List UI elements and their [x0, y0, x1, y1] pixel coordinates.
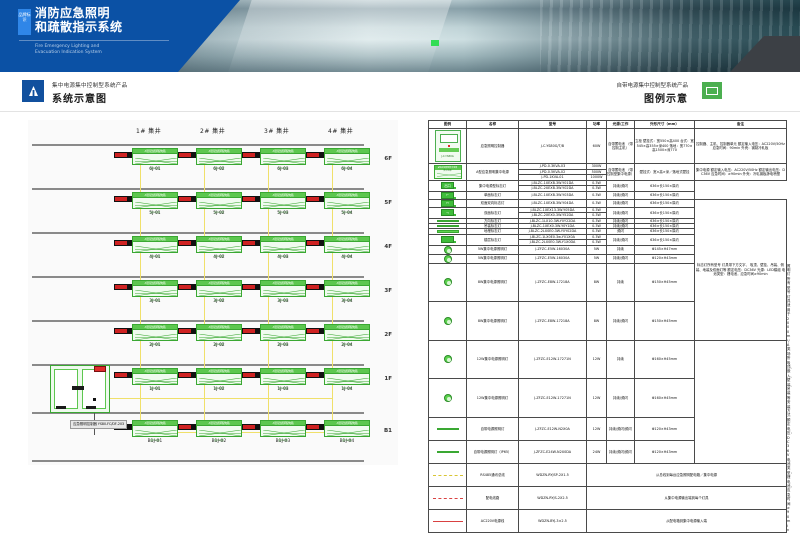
cabinet-panel-right — [82, 369, 106, 409]
legend-source-cell: 持续/频闪 — [607, 234, 635, 245]
circuit-symbol-icon — [135, 378, 177, 385]
circuit-symbol-icon — [263, 290, 305, 297]
legend-symbol-cell: J-C-YS80G — [429, 129, 467, 164]
legend-symbol-cell — [429, 463, 467, 486]
floor-divider — [32, 460, 364, 462]
legend-source-cell: 自带蓄电池 （带控制主机） — [607, 129, 635, 164]
legend-symbol-cell — [429, 440, 467, 463]
legend-model-cell: J-ZFZC-E12W-17271N — [519, 379, 587, 418]
legend-name-cell: 配电线路 — [467, 487, 519, 510]
downlight-icon — [444, 317, 452, 325]
power-box-icon: A型应急照明集中电源集中电源 — [434, 165, 462, 179]
distribution-box[interactable]: A型应急照明配电箱集中电源B1J-03 — [260, 420, 306, 443]
distribution-box-body: A型应急照明配电箱集中电源 — [196, 192, 242, 209]
banner-subtitle: Fire Emergency Lighting and Evacuation I… — [35, 44, 102, 56]
distribution-box-body: A型应急照明配电箱集中电源 — [196, 324, 242, 341]
banner-title: 消防应急照明 和疏散指示系统 — [35, 6, 123, 34]
building-icon — [22, 80, 44, 102]
legend-name-cell: 自带电源照明灯 — [467, 417, 519, 440]
legend-source-cell: 持续/频闪 — [607, 207, 635, 218]
controller-cabinet-icon: J-C-YS80G — [435, 130, 461, 162]
exit-sign-bar3-icon — [437, 230, 459, 233]
power-connector-icon — [242, 240, 260, 246]
distribution-box-body: A型应急照明配电箱集中电源 — [324, 368, 370, 385]
distribution-box[interactable]: A型应急照明配电箱集中电源4J-03 — [260, 236, 306, 259]
column-header: 4# 集井 — [328, 126, 353, 135]
legend-name-cell: 5W集中电源照明灯 — [467, 254, 519, 263]
circuit-symbol-icon — [263, 202, 305, 209]
distribution-box[interactable]: A型应急照明配电箱集中电源3J-02 — [196, 280, 242, 303]
legend-power-cell: 8W — [587, 263, 607, 302]
exit-sign-photo-icon — [431, 40, 439, 46]
circuit-symbol-icon — [327, 246, 369, 253]
circuit-symbol-icon — [263, 158, 305, 165]
legend-power-cell: 12W — [587, 417, 607, 440]
table-row: ←单面标志灯J-BLZC-1XEXB.3W-Y03DA0.3W持续/频闪636×… — [429, 191, 787, 199]
distribution-box-body: A型应急照明配电箱集中电源 — [132, 368, 178, 385]
legend-model-cell: J-C-YS80G/T/B — [519, 129, 587, 164]
legend-symbol-cell — [429, 254, 467, 263]
distribution-box-body: A型应急照明配电箱集中电源 — [132, 192, 178, 209]
power-connector-icon — [114, 372, 132, 378]
power-connector-icon — [178, 372, 196, 378]
legend-symbol-cell — [429, 263, 467, 302]
circuit-symbol-icon — [327, 430, 369, 437]
distribution-box-body: A型应急照明配电箱集中电源 — [132, 280, 178, 297]
legend-symbol-cell: 出口 — [429, 181, 467, 192]
floor-label: 6F — [384, 156, 392, 162]
banner-subtitle-line2: Evacuation Indication System — [35, 50, 102, 56]
circuit-symbol-icon — [263, 334, 305, 341]
distribution-box-body: A型应急照明配电箱集中电源 — [260, 280, 306, 297]
cable-red-icon — [433, 521, 463, 522]
circuit-symbol-icon — [135, 158, 177, 165]
legend-size-cell: 636×长150×厚约 — [635, 234, 695, 245]
exit-sign-bar-icon — [437, 220, 459, 223]
circuit-symbol-icon — [199, 334, 241, 341]
power-connector-icon — [114, 240, 132, 246]
distribution-box[interactable]: A型应急照明配电箱集中电源5J-04 — [324, 192, 370, 215]
table-row: J-C-YS80G应急照明控制器J-C-YS80G/T/B60W自带蓄电池 （带… — [429, 129, 787, 164]
distribution-box-body: A型应急照明配电箱集中电源 — [324, 192, 370, 209]
legend-power-cell: 5W — [587, 254, 607, 263]
downlight-icon — [444, 394, 452, 402]
table-column-header: 名称 — [467, 121, 519, 129]
distribution-box[interactable]: A型应急照明配电箱集中电源1J-01 — [132, 368, 178, 391]
power-connector-icon — [114, 152, 132, 158]
table-column-header: 备注 — [695, 121, 787, 129]
power-connector-icon — [178, 152, 196, 158]
banner-title-line2: 和疏散指示系统 — [35, 20, 123, 34]
distribution-box-body: A型应急照明配电箱集中电源 — [196, 280, 242, 297]
table-column-header: 外形尺寸（mm） — [635, 121, 695, 129]
floor-divider — [32, 320, 364, 322]
downlight-icon — [444, 255, 452, 263]
table-column-header: 图例 — [429, 121, 467, 129]
legend-power-cell: 8W — [587, 302, 607, 341]
legend-size-cell: Φ160×H45mm — [635, 379, 695, 418]
power-connector-icon — [306, 240, 324, 246]
distribution-box[interactable]: A型应急照明配电箱集中电源1J-04 — [324, 368, 370, 391]
legend-symbol-cell: ↔ — [429, 199, 467, 207]
floor-label: 2F — [384, 332, 392, 338]
content-area: 1# 集井2# 集井3# 集井4# 集井6F5F4F3F2F1FB1A型应急照明… — [0, 112, 800, 472]
legend-power-cell: 0.3W — [587, 191, 607, 199]
legend-source-cell: 持续/频闪 — [607, 191, 635, 199]
legend-name-cell: 集中电源型标志灯 — [467, 181, 519, 192]
circuit-symbol-icon — [263, 246, 305, 253]
legend-size-cell: Φ150×H45mm — [635, 302, 695, 341]
table-column-header: 光源/工作 — [607, 121, 635, 129]
power-connector-icon — [306, 328, 324, 334]
distribution-box-body: A型应急照明配电箱集中电源 — [260, 236, 306, 253]
legend-model-cell: J-BLZC-1XEXB.3W-Y04DA — [519, 199, 587, 207]
distribution-box[interactable]: A型应急照明配电箱集中电源3J-03 — [260, 280, 306, 303]
cabinet-slot — [56, 406, 66, 409]
column-header: 2# 集井 — [200, 126, 225, 135]
distribution-box-body: A型应急照明配电箱集中电源 — [132, 324, 178, 341]
circuit-symbol-icon — [327, 334, 369, 341]
legend-symbol-cell: A型应急照明集中电源集中电源 — [429, 164, 467, 181]
power-connector-icon — [306, 284, 324, 290]
table-row: 12W集中电源照明灯J-ZFZC-E12W-17271N12W持续Φ160×H4… — [429, 340, 787, 379]
legend-source-cell: 持续 — [607, 340, 635, 379]
exit-sign-icon — [702, 82, 722, 99]
distribution-box[interactable]: A型应急照明配电箱集中电源2J-01 — [132, 324, 178, 347]
legend-size-cell: 636×长150×厚约 — [635, 191, 695, 199]
legend-source-cell: 持续/频闪/频闪 — [607, 440, 635, 463]
legend-size-cell: Φ150×H45mm — [635, 263, 695, 302]
power-connector-icon — [178, 328, 196, 334]
circuit-symbol-icon — [263, 378, 305, 385]
distribution-box[interactable]: A型应急照明配电箱集中电源6J-03 — [260, 148, 306, 171]
distribution-box[interactable]: A型应急照明配电箱集中电源5J-02 — [196, 192, 242, 215]
distribution-box[interactable]: A型应急照明配电箱集中电源3J-01 — [132, 280, 178, 303]
circuit-symbol-icon — [327, 378, 369, 385]
exit-sign-right-icon: → — [441, 209, 454, 216]
power-connector-icon — [242, 372, 260, 378]
legend-name-cell: 双面双向标志灯 — [467, 199, 519, 207]
legend-power-cell: 0.3W — [587, 199, 607, 207]
circuit-symbol-icon — [199, 158, 241, 165]
distribution-box-body: A型应急照明配电箱集中电源 — [196, 236, 242, 253]
power-connector-icon — [114, 284, 132, 290]
legend-model-cell: WDZN-RYJS-2X2.5 — [519, 487, 587, 510]
floor-divider — [32, 232, 364, 234]
legend-size-cell: 壁挂式：宽×高×深／落地式壁挂 — [635, 164, 695, 181]
floor-divider — [32, 188, 364, 190]
distribution-box-body: A型应急照明配电箱集中电源 — [132, 148, 178, 165]
legend-name-cell: 5W集中电源照明灯 — [467, 245, 519, 254]
legend-size-cell: Φ120×H43mm — [635, 440, 695, 463]
banner-title-line1: 消防应急照明 — [35, 6, 123, 20]
distribution-box-body: A型应急照明配电箱集中电源 — [324, 148, 370, 165]
exit-sign-both-icon: ↔ — [441, 200, 454, 207]
table-row: 自带电源照明灯J-ZFZC-E12W-N2X0A12W持续/频闪/频闪Φ120×… — [429, 417, 787, 440]
legend-size-cell: 立柜 壁挂式：宽550×高400 台式：宽545×高355×深400 落地：宽7… — [635, 129, 695, 164]
distribution-box[interactable]: A型应急照明配电箱集中电源2J-02 — [196, 324, 242, 347]
section-left-title: 系统示意图 — [52, 90, 107, 105]
distribution-box-body: A型应急照明配电箱集中电源 — [260, 324, 306, 341]
legend-source-cell: 持续/频闪 — [607, 302, 635, 341]
distribution-box[interactable]: A型应急照明配电箱集中电源6J-04 — [324, 148, 370, 171]
table-row: AC220V电源线WDZN-BYJ-3×2.5从配电箱到集中电源输入端 — [429, 510, 787, 533]
power-connector-icon — [178, 284, 196, 290]
floor-divider — [32, 276, 364, 278]
table-column-header: 型号 — [519, 121, 587, 129]
legend-model-cell: J-ZFZC-E5W-16030A — [519, 245, 587, 254]
legend-source-cell: 持续 — [607, 245, 635, 254]
legend-name-cell: 单面标志灯 — [467, 191, 519, 199]
floor-divider — [32, 144, 364, 146]
section-right-title: 图例示意 — [644, 90, 688, 105]
power-connector-icon — [306, 196, 324, 202]
legend-power-cell: 12W — [587, 340, 607, 379]
legend-source-cell: 持续/频闪 — [607, 379, 635, 418]
section-left-subtitle: 集中电源集中控制型系统产品 — [52, 81, 127, 89]
distribution-box[interactable]: A型应急照明配电箱集中电源B1J-02 — [196, 420, 242, 443]
distribution-box[interactable]: A型应急照明配电箱集中电源4J-02 — [196, 236, 242, 259]
distribution-box[interactable]: A型应急照明配电箱集中电源2J-03 — [260, 324, 306, 347]
legend-symbol-cell — [429, 234, 467, 245]
table-row: 出口集中电源型标志灯J-BLZC-1XEXB.3W-Y01DA0.3W持续/频闪… — [429, 181, 787, 186]
legend-model-cell: J-ZFZC-E8W-17218A — [519, 263, 587, 302]
cabinet-slot — [72, 386, 84, 390]
legend-source-cell: 持续 — [607, 263, 635, 302]
power-connector-icon — [178, 196, 196, 202]
power-connector-icon — [306, 152, 324, 158]
legend-model-cell: WDZN-BYJ-3×2.5 — [519, 510, 587, 533]
legend-size-cell: 636×长150×厚约 — [635, 199, 695, 207]
circuit-symbol-icon — [199, 246, 241, 253]
cable-red-dash-icon — [433, 498, 463, 499]
header-banner: 品牌标识 消防应急照明 和疏散指示系统 Fire Emergency Light… — [0, 0, 800, 72]
power-connector-icon — [114, 196, 132, 202]
distribution-box-body: A型应急照明配电箱集中电源 — [132, 420, 178, 437]
legend-source-cell: 持续/频闪 — [607, 199, 635, 207]
floor-label: B1 — [384, 428, 392, 434]
legend-model-cell: J-ZFZC-E5W-16030A — [519, 254, 587, 263]
cable-yellow-icon — [433, 475, 463, 476]
power-connector-icon — [178, 424, 196, 430]
distribution-box[interactable]: A型应急照明配电箱集中电源B1J-01 — [132, 420, 178, 443]
downlight-icon — [444, 246, 452, 254]
column-header: 1# 集井 — [136, 126, 161, 135]
table-row: 配电线路WDZN-RYJS-2X2.5从集中电源输出端到每个灯具 — [429, 487, 787, 510]
distribution-box-body: A型应急照明配电箱集中电源 — [260, 148, 306, 165]
legend-symbol-cell — [429, 417, 467, 440]
column-header: 3# 集井 — [264, 126, 289, 135]
circuit-symbol-icon — [263, 430, 305, 437]
legend-model-cell: J-ZFZC-E24W-N2X0DA — [519, 440, 587, 463]
power-connector-icon — [306, 424, 324, 430]
legend-model-cell: J-BLZC-1XEXB.3W-Y03DA — [519, 191, 587, 199]
legend-table-wrap: 图例名称型号功率光源/工作外形尺寸（mm）备注 J-C-YS80G应急照明控制器… — [428, 120, 786, 465]
cabinet-slot — [86, 406, 96, 409]
distribution-box-body: A型应急照明配电箱集中电源 — [132, 236, 178, 253]
downlight-icon — [444, 278, 452, 286]
circuit-symbol-icon — [199, 290, 241, 297]
legend-description-cell: 从集中电源输出端到每个灯具 — [587, 487, 787, 510]
power-connector-icon — [178, 240, 196, 246]
distribution-box-body: A型应急照明配电箱集中电源 — [196, 420, 242, 437]
floor-label: 4F — [384, 244, 392, 250]
distribution-box[interactable]: A型应急照明配电箱集中电源5J-03 — [260, 192, 306, 215]
riser-feed — [86, 398, 332, 399]
distribution-box-body: A型应急照明配电箱集中电源 — [260, 420, 306, 437]
legend-name-cell: 8W集中电源照明灯 — [467, 263, 519, 302]
table-column-header: 功率 — [587, 121, 607, 129]
legend-source-cell: 持续/频闪 — [607, 254, 635, 263]
legend-symbol-cell — [429, 510, 467, 533]
legend-name-cell: AC220V电源线 — [467, 510, 519, 533]
legend-size-cell: Φ160×H45mm — [635, 340, 695, 379]
legend-symbol-cell: ← — [429, 191, 467, 199]
circuit-symbol-icon — [135, 246, 177, 253]
distribution-box[interactable]: A型应急照明配电箱集中电源3J-04 — [324, 280, 370, 303]
legend-note-cell: 标志灯所有型号 灯具带下方文字、 吸顶、壁挂、吊装、侧装、地装及双面灯等 额定电… — [695, 199, 787, 340]
legend-size-cell: 636×长150×厚约 — [635, 207, 695, 218]
legend-source-cell: 持续/频闪 — [607, 181, 635, 192]
power-connector-icon — [114, 328, 132, 334]
distribution-box[interactable]: A型应急照明配电箱集中电源4J-01 — [132, 236, 178, 259]
brand-tag: 品牌标识 — [18, 9, 31, 35]
floor-label: 3F — [384, 288, 392, 294]
legend-description-cell: 从配电箱到集中电源输入端 — [587, 510, 787, 533]
distribution-box-body: A型应急照明配电箱集中电源 — [324, 236, 370, 253]
legend-symbol-cell — [429, 487, 467, 510]
cabinet-indicator — [94, 366, 106, 372]
legend-power-cell: 12W — [587, 379, 607, 418]
legend-model-cell: J-ZFZC-E12W-N2X0A — [519, 417, 587, 440]
legend-table: 图例名称型号功率光源/工作外形尺寸（mm）备注 J-C-YS80G应急照明控制器… — [428, 120, 787, 533]
legend-note-cell: 集中电源 额定输入电压：AC220V/50Hz 额定输出电压：DC36V 应急时… — [695, 164, 787, 181]
legend-symbol-cell — [429, 245, 467, 254]
legend-source-cell: 持续/频闪/频闪 — [607, 417, 635, 440]
circuit-symbol-icon — [327, 290, 369, 297]
circuit-symbol-icon — [135, 202, 177, 209]
legend-name-cell: 应急照明控制器 — [467, 129, 519, 164]
legend-note-cell: 控制器、主机、控制器单元 额定输入电压：AC220V/50Hz 应急时间：90m… — [695, 129, 787, 164]
power-connector-icon — [242, 152, 260, 158]
banner-divider — [19, 40, 169, 41]
distribution-box[interactable]: A型应急照明配电箱集中电源1J-02 — [196, 368, 242, 391]
circuit-symbol-icon — [199, 202, 241, 209]
power-connector-icon — [242, 424, 260, 430]
legend-power-cell: 5W — [587, 245, 607, 254]
distribution-box-body: A型应急照明配电箱集中电源 — [196, 148, 242, 165]
distribution-box-body: A型应急照明配电箱集中电源 — [260, 192, 306, 209]
exit-sign-bar2-icon — [437, 225, 459, 228]
circuit-symbol-icon — [135, 290, 177, 297]
distribution-box[interactable]: A型应急照明配电箱集中电源B1J-04 — [324, 420, 370, 443]
distribution-box-body: A型应急照明配电箱集中电源 — [324, 280, 370, 297]
exit-sign-icon: 出口 — [441, 182, 454, 189]
legend-name-cell: RS485通讯总线 — [467, 463, 519, 486]
legend-power-cell: 60W — [587, 129, 607, 164]
table-row: A型应急照明集中电源集中电源A型应急照明集中电源J-PD-0.3KVA-0330… — [429, 164, 787, 170]
light-bar-icon — [437, 428, 459, 431]
circuit-symbol-icon — [199, 430, 241, 437]
light-bar-icon — [437, 451, 459, 454]
legend-power-cell: 24W — [587, 440, 607, 463]
section-right-subtitle: 自带电源集中控制型系统产品 — [616, 81, 688, 89]
legend-symbol-cell — [429, 379, 467, 418]
legend-symbol-cell — [429, 340, 467, 379]
legend-size-cell: Φ145×H47mm — [635, 245, 695, 254]
floor-label: 1F — [384, 376, 392, 382]
legend-source-cell: 自带蓄电池 （带控制型集中电源） — [607, 164, 635, 181]
distribution-box-body: A型应急照明配电箱集中电源 — [260, 368, 306, 385]
circuit-symbol-icon — [135, 430, 177, 437]
legend-name-cell: 12W集中电源照明灯 — [467, 340, 519, 379]
exit-sign-left-icon: ← — [441, 192, 454, 199]
circuit-symbol-icon — [135, 334, 177, 341]
table-header-row: 图例名称型号功率光源/工作外形尺寸（mm）备注 — [429, 121, 787, 129]
circuit-symbol-icon — [199, 378, 241, 385]
distribution-box[interactable]: A型应急照明配电箱集中电源6J-01 — [132, 148, 178, 171]
legend-model-cell: J-ZFZC-E12W-17271N — [519, 340, 587, 379]
legend-size-cell: Φ120×H43mm — [635, 417, 695, 440]
table-row: RS485通讯总线WDZN-RYJSP-2X1.5从总线到每台应急照明配电箱／集… — [429, 463, 787, 486]
legend-model-cell: J-BLZC-2LX0E0.3W-Y0Y02DA — [519, 229, 587, 234]
junction-node — [93, 398, 96, 401]
floor-label: 5F — [384, 200, 392, 206]
distribution-box[interactable]: A型应急照明配电箱集中电源5J-01 — [132, 192, 178, 215]
legend-size-cell: 636×长150×厚约 — [635, 181, 695, 192]
exit-sign-text-icon — [441, 236, 454, 243]
legend-size-cell: Φ120×H43mm — [635, 254, 695, 263]
circuit-symbol-icon — [327, 158, 369, 165]
distribution-box-body: A型应急照明配电箱集中电源 — [324, 420, 370, 437]
legend-symbol-cell — [429, 302, 467, 341]
distribution-box[interactable]: A型应急照明配电箱集中电源2J-04 — [324, 324, 370, 347]
legend-symbol-cell: → — [429, 207, 467, 218]
legend-description-cell: 从总线到每台应急照明配电箱／集中电源 — [587, 463, 787, 486]
legend-model-cell: WDZN-RYJSP-2X1.5 — [519, 463, 587, 486]
downlight-icon — [444, 355, 452, 363]
legend-name-cell: 自带电源照明灯（IP65） — [467, 440, 519, 463]
system-diagram: 1# 集井2# 集井3# 集井4# 集井6F5F4F3F2F1FB1A型应急照明… — [28, 120, 398, 465]
power-connector-icon — [242, 196, 260, 202]
circuit-symbol-icon — [327, 202, 369, 209]
distribution-box[interactable]: A型应急照明配电箱集中电源1J-03 — [260, 368, 306, 391]
power-connector-icon — [242, 328, 260, 334]
distribution-box[interactable]: A型应急照明配电箱集中电源6J-02 — [196, 148, 242, 171]
section-bar: 集中电源集中控制型系统产品 系统示意图 自带电源集中控制型系统产品 图例示意 — [0, 72, 800, 112]
table-row: 12W集中电源照明灯J-ZFZC-E12W-17271N12W持续/频闪Φ160… — [429, 379, 787, 418]
legend-name-cell: 12W集中电源照明灯 — [467, 379, 519, 418]
power-connector-icon — [242, 284, 260, 290]
legend-model-cell: J-ZFZC-E8W-17218A — [519, 302, 587, 341]
table-row: 自带电源照明灯（IP65）J-ZFZC-E24W-N2X0DA24W持续/频闪/… — [429, 440, 787, 463]
legend-name-cell: 双面标志灯 — [467, 207, 519, 218]
table-row: ↔双面双向标志灯J-BLZC-1XEXB.3W-Y04DA0.3W持续/频闪63… — [429, 199, 787, 207]
legend-name-cell: 8W集中电源照明灯 — [467, 302, 519, 341]
legend-name-cell: A型应急照明集中电源 — [467, 164, 519, 181]
distribution-box[interactable]: A型应急照明配电箱集中电源4J-04 — [324, 236, 370, 259]
legend-name-cell: 楼层标志灯 — [467, 234, 519, 245]
distribution-box-body: A型应急照明配电箱集中电源 — [196, 368, 242, 385]
cabinet-caption: 应急照明控制器 YS80-FC/DF-203 — [70, 420, 127, 429]
distribution-box-body: A型应急照明配电箱集中电源 — [324, 324, 370, 341]
power-connector-icon — [306, 372, 324, 378]
